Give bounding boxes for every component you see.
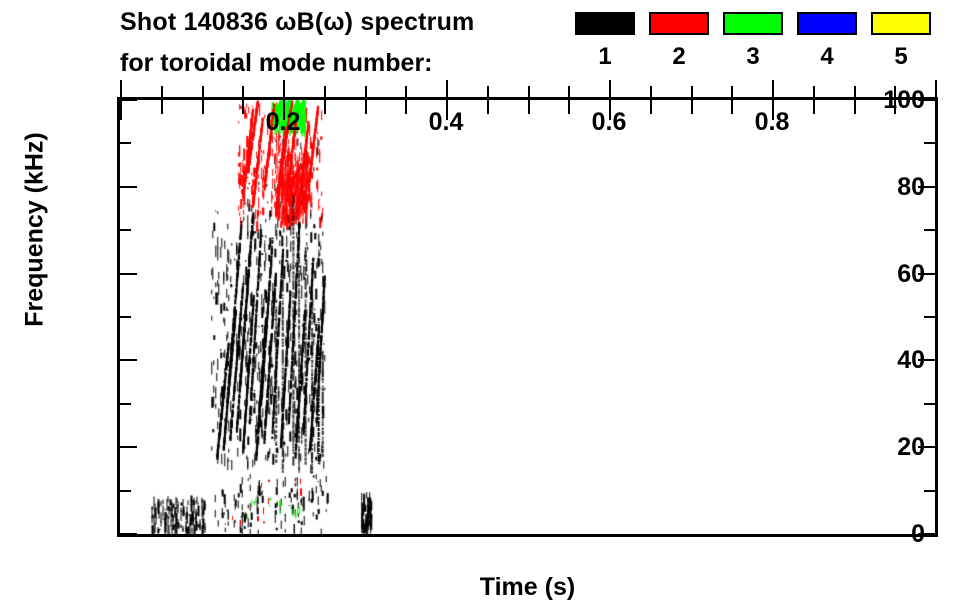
x-tick bbox=[772, 80, 774, 100]
chart-title-line2: for toroidal mode number: bbox=[120, 47, 570, 79]
x-tick bbox=[568, 86, 570, 100]
legend-label-3: 3 bbox=[723, 44, 783, 70]
x-tick bbox=[365, 86, 367, 100]
y-tick bbox=[120, 316, 131, 318]
x-tick bbox=[202, 86, 204, 100]
axis-bottom bbox=[120, 534, 935, 537]
x-tick bbox=[120, 80, 122, 100]
y-tick-label: 60 bbox=[835, 260, 925, 288]
y-tick bbox=[120, 490, 131, 492]
legend-label-2: 2 bbox=[649, 44, 709, 70]
y-tick bbox=[120, 446, 137, 448]
chart-title-line1: Shot 140836 ωB(ω) spectrum bbox=[120, 6, 570, 38]
legend: 12345 bbox=[575, 12, 955, 87]
x-tick bbox=[731, 86, 733, 100]
y-tick bbox=[120, 359, 137, 361]
y-tick bbox=[120, 403, 131, 405]
x-tick bbox=[528, 86, 530, 100]
plot-area: 0.20.40.60.8 020406080100 bbox=[120, 100, 935, 534]
y-tick-right bbox=[924, 142, 935, 144]
x-tick-top bbox=[120, 100, 122, 120]
y-tick-right bbox=[924, 490, 935, 492]
x-tick-label: 0.2 bbox=[238, 108, 328, 137]
y-tick-label: 20 bbox=[835, 433, 925, 461]
y-tick-label: 0 bbox=[835, 520, 925, 548]
x-tick-top bbox=[691, 100, 693, 114]
y-tick bbox=[120, 142, 131, 144]
x-tick bbox=[487, 86, 489, 100]
x-tick-top bbox=[161, 100, 163, 114]
spectrogram-canvas bbox=[120, 100, 935, 534]
y-tick bbox=[120, 229, 131, 231]
x-tick bbox=[161, 86, 163, 100]
x-axis-title: Time (s) bbox=[120, 573, 935, 602]
x-tick bbox=[691, 86, 693, 100]
y-tick-label: 80 bbox=[835, 173, 925, 201]
y-tick-right bbox=[924, 403, 935, 405]
legend-swatch-3 bbox=[723, 12, 783, 35]
x-tick-top bbox=[202, 100, 204, 114]
legend-item-5: 5 bbox=[871, 12, 931, 70]
spectrogram-figure: Shot 140836 ωB(ω) spectrum for toroidal … bbox=[0, 0, 963, 615]
x-tick bbox=[283, 80, 285, 100]
legend-swatch-4 bbox=[797, 12, 857, 35]
x-tick-label: 0.6 bbox=[564, 108, 654, 137]
legend-swatch-1 bbox=[575, 12, 635, 35]
y-tick-label: 100 bbox=[835, 86, 925, 114]
x-tick-label: 0.8 bbox=[727, 108, 817, 137]
x-tick bbox=[935, 80, 937, 100]
x-tick bbox=[650, 86, 652, 100]
legend-item-4: 4 bbox=[797, 12, 857, 70]
legend-item-3: 3 bbox=[723, 12, 783, 70]
x-tick bbox=[609, 80, 611, 100]
x-tick-top bbox=[935, 100, 937, 120]
axis-right bbox=[935, 97, 938, 537]
y-tick bbox=[120, 99, 137, 101]
legend-label-4: 4 bbox=[797, 44, 857, 70]
spectrogram-data-layer bbox=[120, 100, 935, 534]
x-tick bbox=[242, 86, 244, 100]
legend-swatch-5 bbox=[871, 12, 931, 35]
legend-item-2: 2 bbox=[649, 12, 709, 70]
x-tick-top bbox=[528, 100, 530, 114]
x-tick bbox=[324, 86, 326, 100]
legend-label-1: 1 bbox=[575, 44, 635, 70]
legend-item-1: 1 bbox=[575, 12, 635, 70]
x-tick bbox=[813, 86, 815, 100]
y-tick-right bbox=[924, 229, 935, 231]
y-tick bbox=[120, 273, 137, 275]
y-tick bbox=[120, 533, 137, 535]
y-axis-title: Frequency (kHz) bbox=[21, 10, 50, 450]
x-tick-label: 0.4 bbox=[401, 108, 491, 137]
y-tick-label: 40 bbox=[835, 346, 925, 374]
legend-label-5: 5 bbox=[871, 44, 931, 70]
y-tick bbox=[120, 186, 137, 188]
title-text: Shot 140836 ωB(ω) spectrum bbox=[120, 8, 474, 37]
y-tick-right bbox=[924, 316, 935, 318]
legend-swatch-2 bbox=[649, 12, 709, 35]
x-tick bbox=[405, 86, 407, 100]
x-tick bbox=[446, 80, 448, 100]
x-tick-top bbox=[365, 100, 367, 114]
